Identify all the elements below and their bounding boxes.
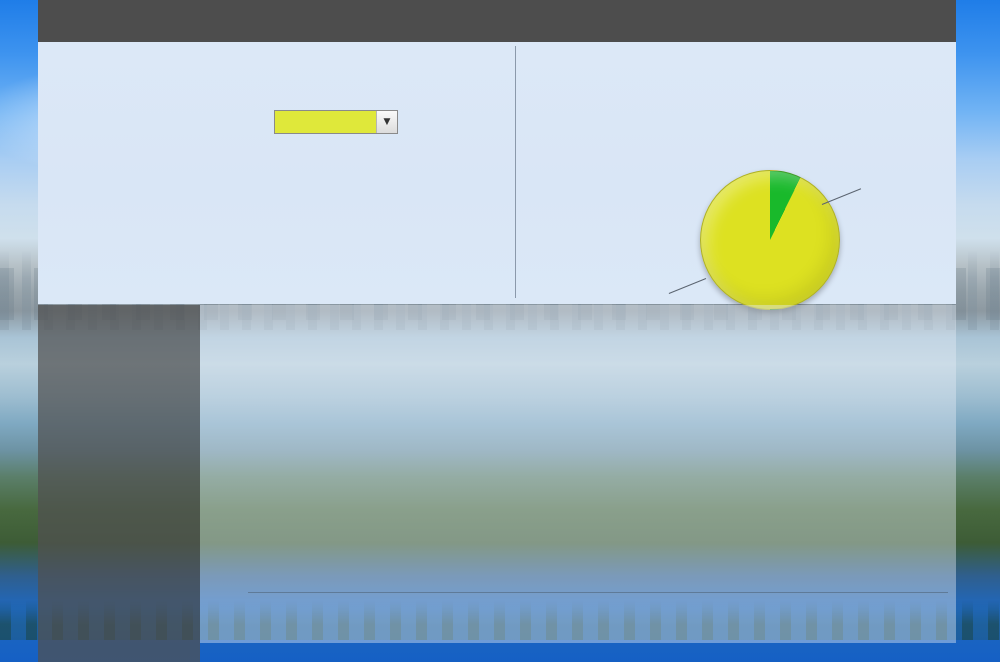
summary-panel: ▼: [38, 42, 956, 304]
city-select[interactable]: ▼: [274, 110, 398, 134]
panel-divider: [515, 46, 516, 298]
app-header: [38, 0, 956, 42]
pie-chart-graphic: [700, 170, 840, 310]
pie-chart: [700, 170, 840, 310]
chevron-down-icon[interactable]: ▼: [376, 111, 397, 133]
sidebar-category-rail: [38, 305, 75, 662]
bar-chart-plot: [200, 370, 956, 620]
sidebar: [38, 305, 200, 662]
main-chart-panel: [200, 305, 956, 643]
x-axis-line: [248, 592, 948, 593]
bar-series: [250, 370, 950, 592]
y-axis: [200, 370, 244, 620]
pie-callout-line-excellent: [822, 188, 861, 205]
pie-callout-line-good: [669, 278, 706, 294]
app-root: ▼: [0, 0, 1000, 662]
city-select-value: [275, 111, 376, 133]
